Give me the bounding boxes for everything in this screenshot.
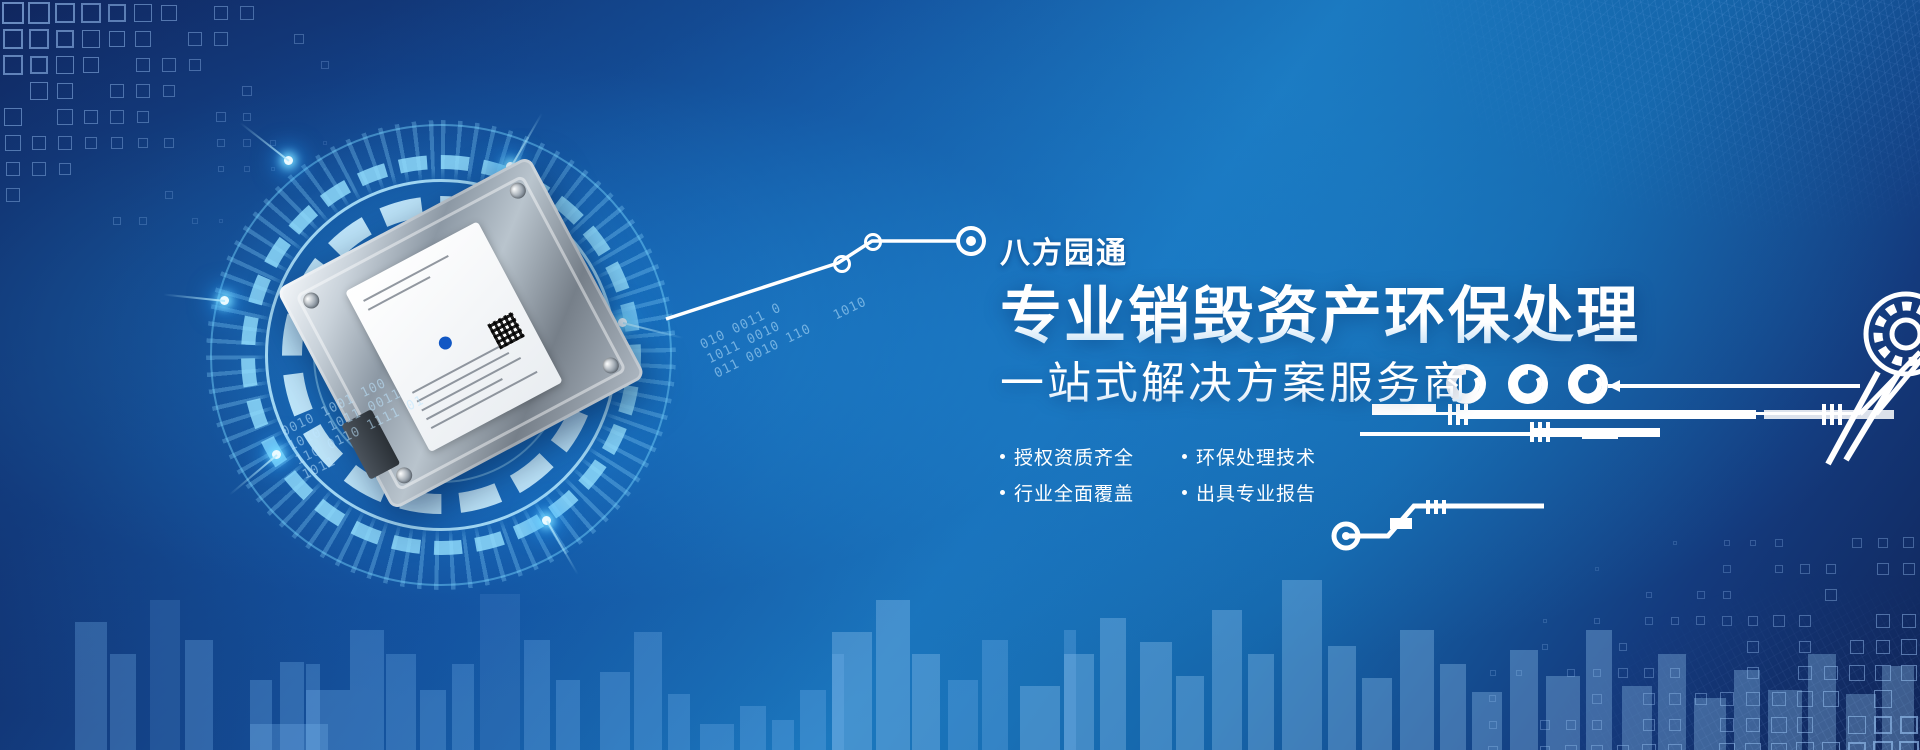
- ring-sparkle-icon: [220, 296, 229, 305]
- bullet-dot-icon: [1182, 490, 1187, 495]
- hdd-barcode-icon: [487, 312, 525, 350]
- skyline-building: [1020, 686, 1060, 750]
- skyline-building: [1658, 654, 1686, 750]
- skyline-building: [1100, 618, 1126, 750]
- grid-square: [59, 163, 72, 176]
- skyline-building: [1140, 642, 1172, 750]
- grid-square: [32, 162, 46, 176]
- ring-sparkle-icon: [284, 156, 293, 165]
- connector-line-graphic: [660, 215, 1000, 325]
- feature-item: 出具专业报告: [1182, 474, 1342, 510]
- banner-copy: 八方园通 专业销毁资产环保处理 一站式解决方案服务商 授权资质齐全环保处理技术行…: [1000, 228, 1760, 510]
- skyline-building: [1586, 630, 1612, 750]
- feature-item: 行业全面覆盖: [1000, 474, 1160, 510]
- bullet-dot-icon: [1000, 454, 1005, 459]
- grid-square: [32, 136, 47, 151]
- skyline-building: [1510, 650, 1538, 750]
- feature-label: 出具专业报告: [1196, 479, 1316, 506]
- grid-square: [57, 83, 73, 99]
- ring-sparkle-icon: [542, 516, 551, 525]
- grid-square: [2, 2, 24, 24]
- brand-name: 八方园通: [1000, 228, 1760, 272]
- skyline-building: [1694, 698, 1726, 750]
- skyline-building: [800, 690, 826, 750]
- skyline-building: [1546, 676, 1580, 750]
- skyline-building: [700, 724, 734, 750]
- feature-item: 环保处理技术: [1182, 438, 1342, 474]
- skyline-building: [1328, 646, 1356, 750]
- bullet-dot-icon: [1000, 490, 1005, 495]
- skyline-building: [1808, 654, 1836, 750]
- feature-label: 环保处理技术: [1196, 443, 1316, 470]
- grid-square: [57, 109, 72, 124]
- subheadline: 一站式解决方案服务商: [1000, 360, 1760, 408]
- feature-item: 授权资质齐全: [1000, 438, 1160, 474]
- hdd-label-dot: [437, 334, 455, 352]
- skyline-building: [1734, 670, 1760, 750]
- concentric-node-graphic: [1802, 288, 1920, 468]
- grid-square: [29, 29, 49, 49]
- skyline-building: [1440, 664, 1466, 750]
- ring-sparkle-icon: [272, 450, 281, 459]
- grid-square: [3, 29, 24, 50]
- grid-square: [56, 30, 75, 49]
- skyline-building: [1768, 690, 1802, 750]
- skyline-spire: [832, 654, 844, 750]
- skyline-building: [912, 654, 940, 750]
- promo-banner: 0010 1001 100 1010 1011 0011 110 0110 11…: [0, 0, 1920, 750]
- feature-label: 授权资质齐全: [1014, 443, 1134, 470]
- bullet-dot-icon: [1182, 454, 1187, 459]
- skyline-building: [772, 720, 794, 750]
- grid-square: [55, 3, 75, 23]
- skyline-building: [1282, 580, 1322, 750]
- grid-square: [30, 56, 49, 75]
- skyline-building: [876, 600, 910, 750]
- skyline-building: [1362, 678, 1392, 750]
- feature-label: 行业全面覆盖: [1014, 479, 1134, 506]
- grid-square: [6, 162, 21, 177]
- skyline-building: [1400, 630, 1434, 750]
- grid-square: [5, 135, 21, 151]
- skyline-spire: [1064, 630, 1076, 750]
- skyline-building: [1248, 654, 1274, 750]
- feature-list: 授权资质齐全环保处理技术行业全面覆盖出具专业报告: [1000, 438, 1760, 510]
- grid-square: [28, 2, 49, 23]
- skyline-building: [1472, 692, 1502, 750]
- skyline-building: [1846, 694, 1876, 750]
- grid-square: [56, 56, 74, 74]
- headline: 专业销毁资产环保处理: [1000, 284, 1760, 350]
- grid-square: [30, 82, 47, 99]
- skyline-building: [1882, 666, 1914, 750]
- grid-square: [58, 136, 72, 150]
- grid-square: [3, 55, 23, 75]
- skyline-building: [1622, 686, 1652, 750]
- skyline-building: [1212, 610, 1242, 750]
- skyline-building: [982, 640, 1008, 750]
- skyline-building: [740, 706, 766, 750]
- grid-square: [6, 188, 19, 201]
- grid-square: [4, 108, 21, 125]
- skyline-building: [1176, 676, 1204, 750]
- skyline-building: [948, 680, 978, 750]
